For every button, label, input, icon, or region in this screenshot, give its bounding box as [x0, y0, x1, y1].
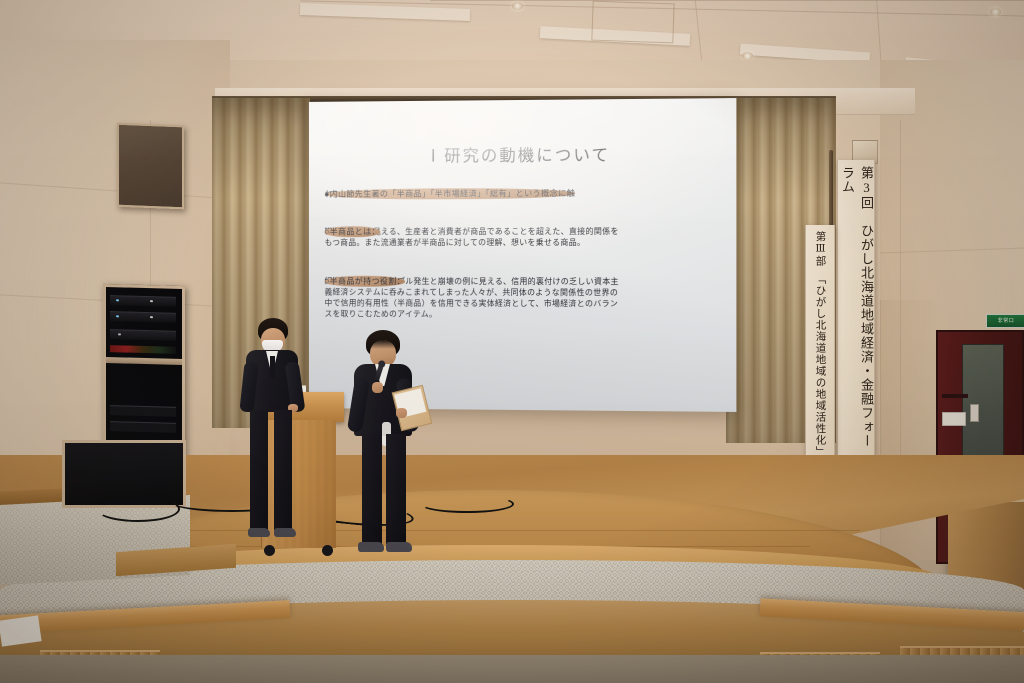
ceiling-light-panel: [300, 3, 470, 21]
slide-line: ○半商品とは：: [325, 226, 380, 237]
banner-sub-text: 第Ⅲ部 「ひがし北海道地域の地域活性化」: [813, 231, 828, 457]
foreground-paper: [0, 615, 42, 646]
floor-cable: [420, 495, 514, 513]
leg: [386, 434, 406, 544]
floor-cable: [96, 496, 180, 522]
necktie: [270, 356, 275, 378]
wall-speaker-panel: [117, 123, 184, 210]
slide-title: Ⅰ 研究の動機について: [325, 141, 721, 167]
shoe: [386, 542, 412, 552]
door-slot: [942, 394, 968, 398]
ceiling-downlight: [990, 8, 1001, 16]
ceiling-downlight: [742, 52, 753, 60]
slide-line: もつ商品。また流通業者が半商品に対しての理解、想いを乗せる商品。: [325, 237, 721, 248]
aisle-floor: [0, 655, 1024, 683]
door-sign-plate: [942, 412, 966, 426]
slide-block-3: ○半商品が持つ役割： 経済格差や日本のバブル発生と崩壊の例に見える、信用的裏付け…: [325, 275, 721, 321]
slide-line: 職人の論理に見える、生産者と消費者が商品であることを超えた、直接的関係を: [325, 226, 721, 238]
leg: [250, 410, 268, 530]
slide-line: ○半商品が持つ役割：: [325, 275, 406, 286]
banner-session-title: 第Ⅲ部 「ひがし北海道地域の地域活性化」: [805, 225, 835, 470]
shoe: [248, 528, 270, 537]
presenter-speaking: [352, 330, 432, 560]
exit-sign-label: 非常口: [998, 319, 1015, 324]
banner-main-text: 第3回 ひがし北海道地域経済・金融フォーラム: [838, 166, 876, 455]
emergency-exit-sign: 非常口: [986, 314, 1024, 328]
banner-forum-title: 第3回 ひがし北海道地域経済・金融フォーラム: [837, 160, 875, 455]
photo-scene: Ⅰ 研究の動機について ●内山節先生著の「半商品」「半市場経済」「総有」という概…: [0, 0, 1024, 683]
door-handle[interactable]: [970, 404, 979, 422]
shoe: [358, 542, 384, 552]
slide-line: スを取りこむためのアイテム。: [325, 309, 721, 322]
slide-block-2: ○半商品とは： 職人の論理に見える、生産者と消費者が商品であることを超えた、直接…: [325, 226, 721, 249]
podium-caster: [322, 545, 333, 556]
hand-holding-mic: [372, 382, 383, 393]
shoe: [274, 528, 296, 537]
presenter-at-podium: [240, 318, 320, 558]
ceiling-downlight: [512, 2, 523, 10]
hand-holding-clipboard: [396, 408, 407, 418]
ceiling-access-panel: [591, 1, 674, 44]
leg: [362, 434, 382, 544]
leg: [274, 410, 292, 530]
slide-block-1: ●内山節先生著の「半商品」「半市場経済」「総有」という概念に触 れた。: [325, 187, 721, 200]
